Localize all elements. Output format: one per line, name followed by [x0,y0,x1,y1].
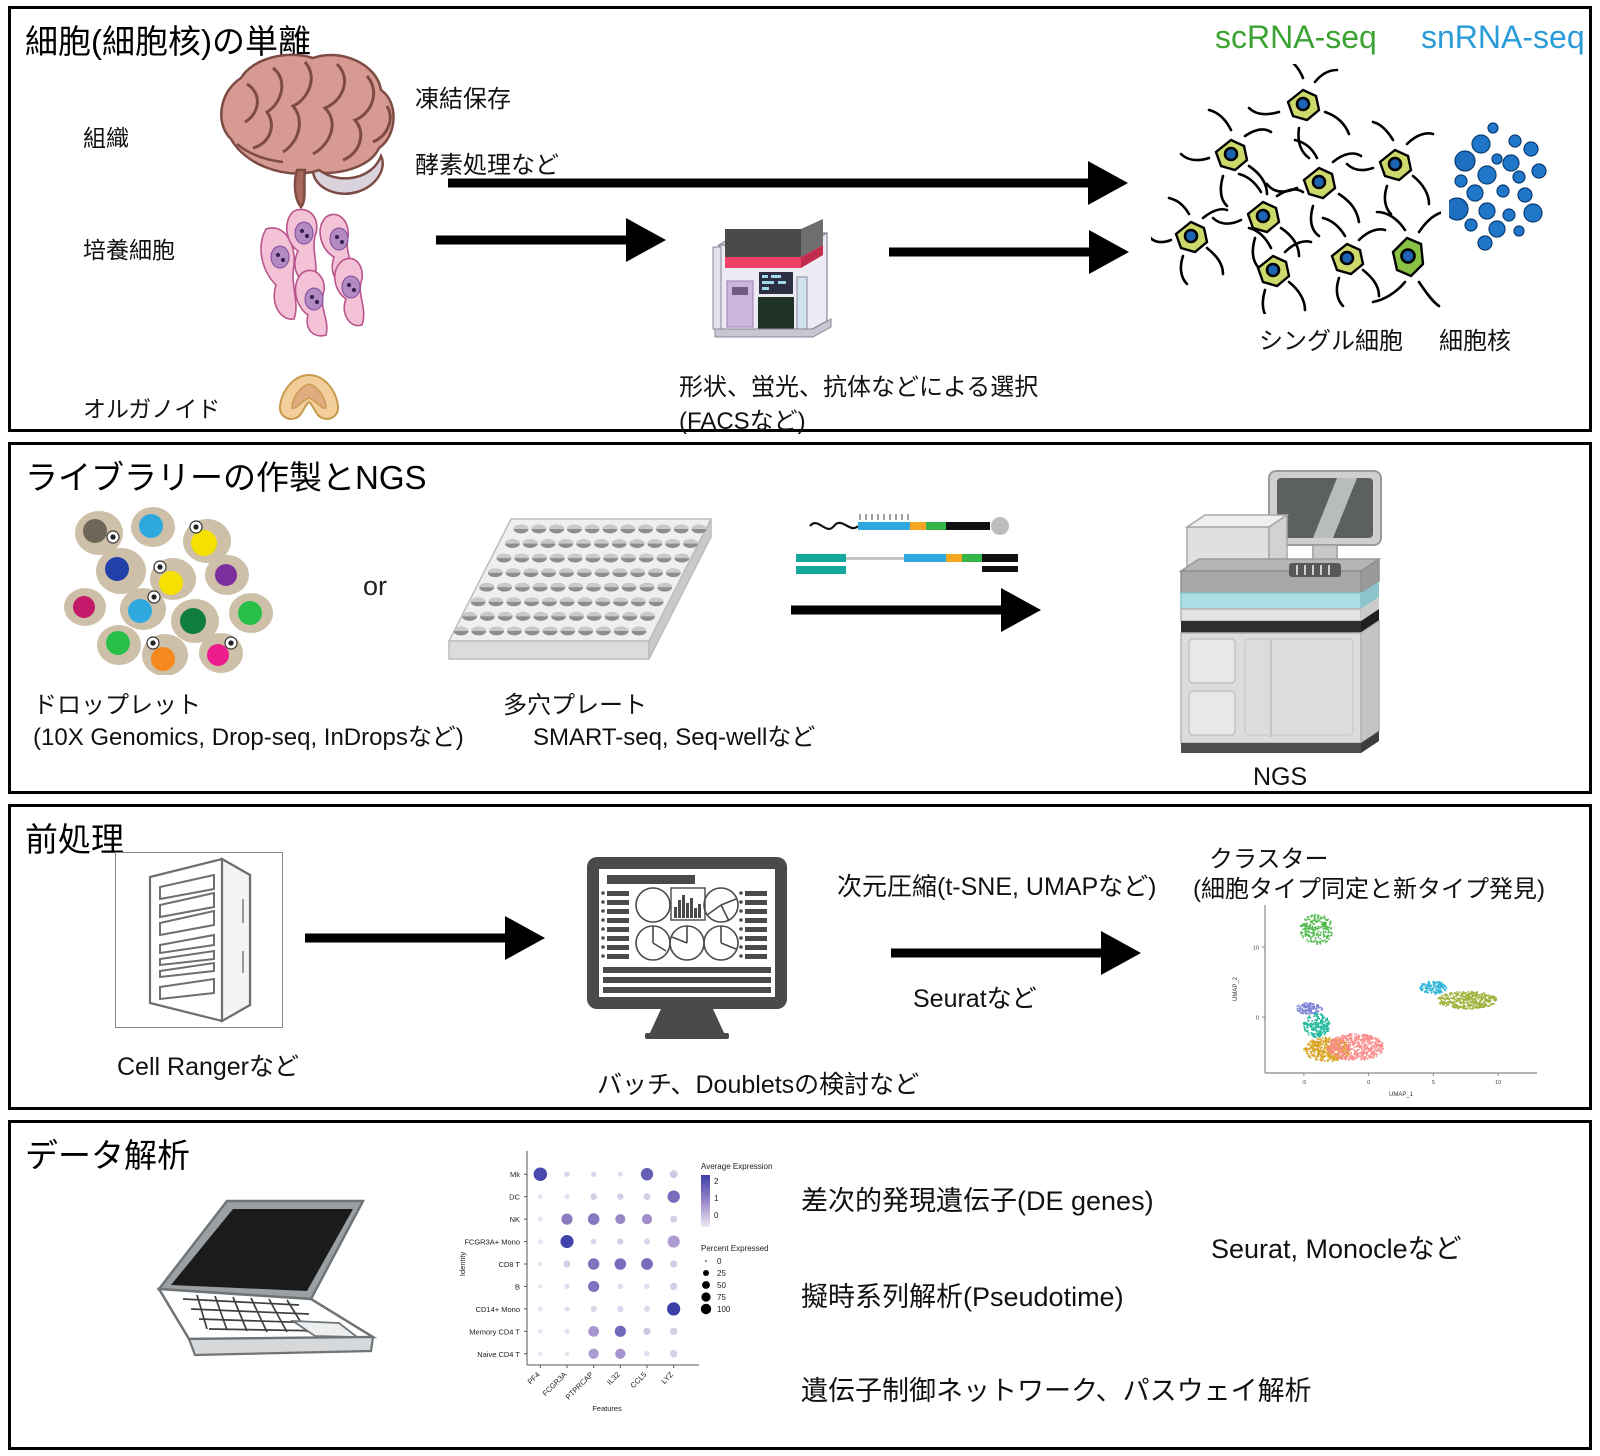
server-illustration [115,852,283,1028]
nuclei-illustration [1449,119,1569,264]
label-de-genes: 差次的発現遺伝子(DE genes) [801,1179,1154,1218]
qc-dashboard-monitor-illustration [583,855,793,1040]
facs-machine-illustration [709,217,835,345]
single-cells-neurons-illustration [1151,64,1441,314]
svg-text:Average Expression: Average Expression [701,1162,772,1171]
svg-text:0: 0 [717,1257,722,1266]
svg-text:CD8 T: CD8 T [498,1260,520,1269]
svg-text:CCL5: CCL5 [628,1370,648,1390]
label-ngs: NGS [1253,763,1307,792]
svg-text:25: 25 [717,1269,726,1278]
label-cellranger: Cell Rangerなど [117,1047,299,1083]
svg-text:Memory CD4 T: Memory CD4 T [469,1327,520,1336]
svg-text:0: 0 [714,1211,719,1220]
panel-title-preproc: 前処理 [25,813,124,861]
svg-text:-5: -5 [1301,1080,1306,1086]
label-or: or [363,571,387,602]
svg-text:PTPRCAP: PTPRCAP [564,1370,595,1401]
label-plate-title: 多穴プレート [503,685,647,720]
svg-text:Percent Expressed: Percent Expressed [701,1244,769,1253]
library-construct-schematic [796,510,1026,590]
label-facs-note: (FACSなど) [679,401,806,436]
droplets-illustration [61,505,281,675]
svg-text:0: 0 [1367,1080,1370,1086]
svg-text:PF4: PF4 [526,1370,542,1386]
svg-text:10: 10 [1253,946,1259,952]
laptop-illustration [123,1181,423,1391]
brain-illustration [201,44,411,209]
svg-text:0: 0 [1256,1016,1259,1022]
label-snrna-seq: snRNA-seq [1421,19,1585,56]
label-plate-platforms: SMART-seq, Seq-wellなど [533,717,815,752]
panel-title-analysis: データ解析 [25,1129,190,1177]
organoid-illustration [276,372,342,424]
label-batch-doublets: バッチ、Doubletsの検討など [597,1065,919,1101]
dotplot-marker-genes: MkDCNKFCGR3A+ MonoCD8 TBCD14+ MonoMemory… [419,1133,779,1433]
label-single-cell: シングル細胞 [1259,321,1403,356]
cultured-cells-illustration [246,199,396,339]
svg-text:75: 75 [717,1293,726,1302]
svg-text:NK: NK [510,1215,520,1224]
umap-cluster-plot: 010-50510UMAP_1UMAP_2 [1219,897,1549,1103]
label-facs-selection: 形状、蛍光、抗体などによる選択 [679,367,1038,402]
panel-cell-isolation: 細胞(細胞核)の単離 組織 培養細胞 オルガノイド [8,6,1592,432]
svg-text:50: 50 [717,1281,726,1290]
label-cultured-cells: 培養細胞 [83,231,175,265]
svg-text:2: 2 [714,1177,719,1186]
svg-text:LYZ: LYZ [659,1370,675,1386]
svg-text:UMAP_2: UMAP_2 [1233,976,1239,1001]
svg-text:Mk: Mk [510,1170,520,1179]
label-droplet-platforms: (10X Genomics, Drop-seq, InDropsなど) [33,717,464,752]
panel-preprocessing: 前処理 Cell Rangerなど [8,804,1592,1110]
svg-text:5: 5 [1432,1080,1435,1086]
label-dim-reduction: 次元圧縮(t-SNE, UMAPなど) [837,867,1156,903]
svg-text:10: 10 [1495,1080,1501,1086]
label-seurat-tool: Seuratなど [913,979,1037,1015]
svg-text:FCGR3A+ Mono: FCGR3A+ Mono [464,1238,520,1247]
workflow-figure: 細胞(細胞核)の単離 組織 培養細胞 オルガノイド [0,0,1600,1456]
multiwell-plate-illustration [443,513,715,681]
svg-text:100: 100 [717,1305,731,1314]
panel-library-ngs: ライブラリーの作製とNGS or [8,442,1592,794]
label-scrna-seq: scRNA-seq [1215,19,1377,56]
label-droplet-title: ドロップレット [33,685,201,720]
svg-text:Features: Features [592,1404,622,1413]
svg-text:Naive CD4 T: Naive CD4 T [477,1350,520,1359]
svg-text:UMAP_1: UMAP_1 [1389,1092,1414,1098]
svg-text:B: B [515,1282,520,1291]
label-grn-pathway: 遺伝子制御ネットワーク、パスウェイ解析 [801,1369,1312,1408]
panel-data-analysis: データ解析 MkDCNKFCGR3A+ MonoCD [8,1120,1592,1450]
svg-text:DC: DC [509,1193,520,1202]
label-nucleus: 細胞核 [1439,321,1511,356]
svg-text:CD14+ Mono: CD14+ Mono [476,1305,520,1314]
label-cryopreservation: 凍結保存 [415,79,511,114]
panel-title-library: ライブラリーの作製とNGS [25,451,427,499]
svg-text:1: 1 [714,1194,719,1203]
label-enzyme-treatment: 酵素処理など [415,145,559,180]
svg-text:IL32: IL32 [605,1370,622,1387]
label-organoid: オルガノイド [83,390,220,424]
ngs-sequencer-illustration [1161,467,1391,757]
label-pseudotime: 擬時系列解析(Pseudotime) [801,1275,1124,1314]
label-tools: Seurat, Monocleなど [1211,1227,1462,1266]
svg-text:Identity: Identity [458,1252,467,1276]
label-tissue: 組織 [83,119,129,153]
